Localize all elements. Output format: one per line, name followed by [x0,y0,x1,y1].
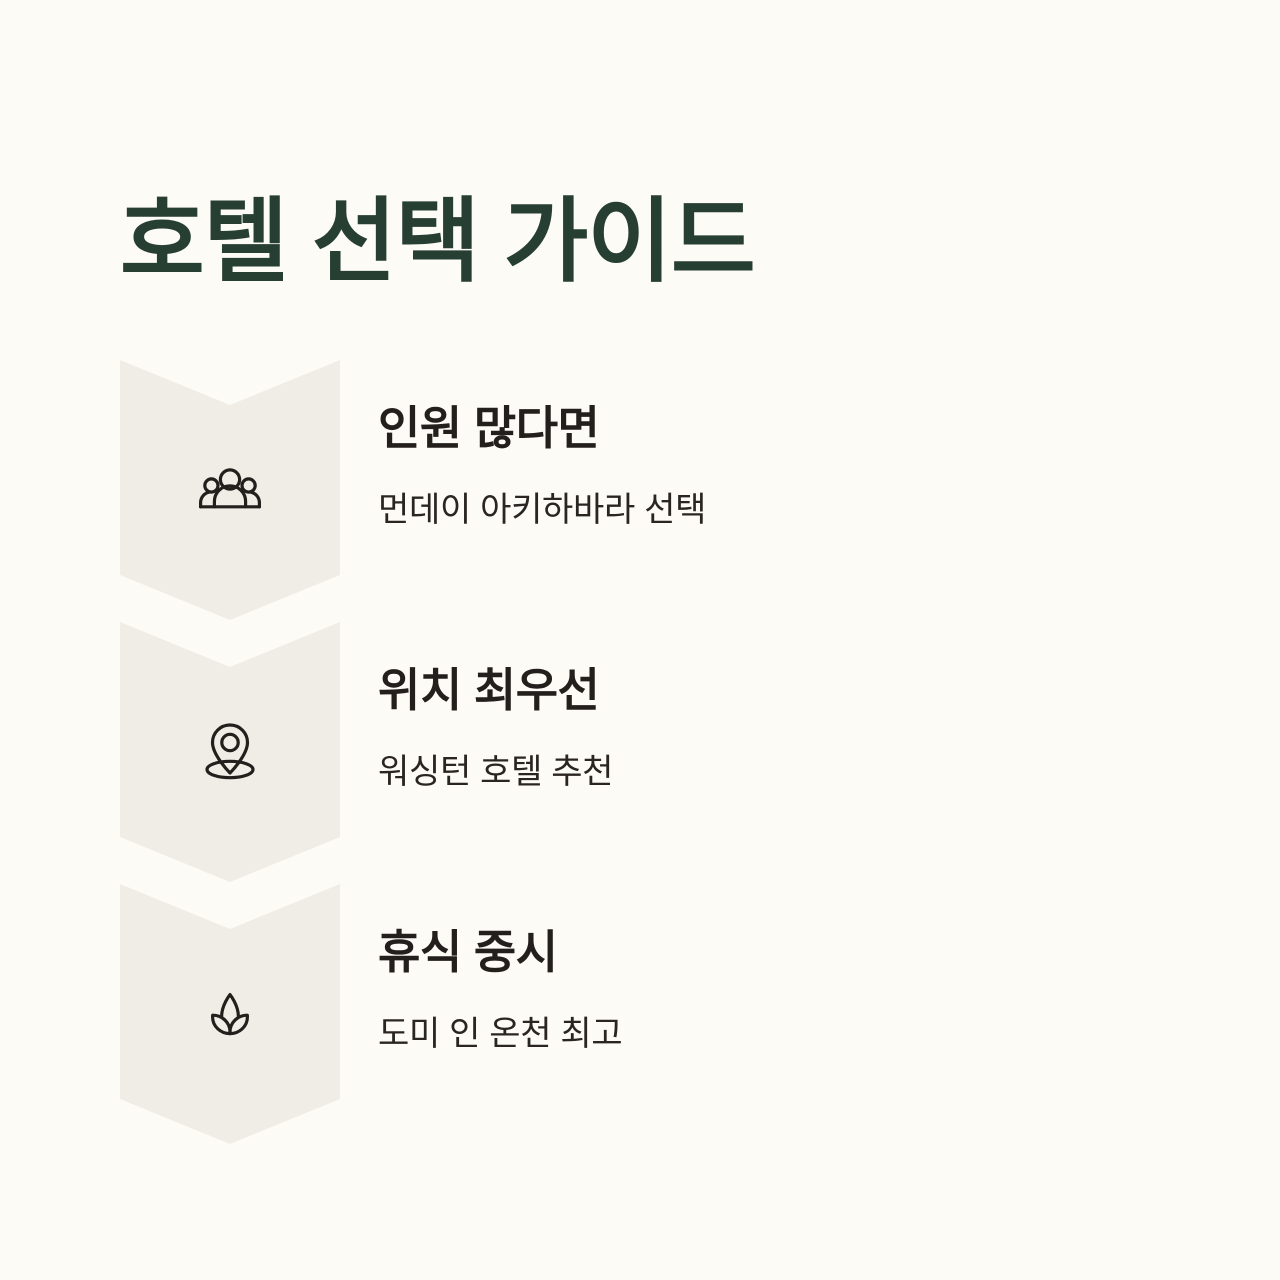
lotus-flower-icon [194,978,266,1050]
guide-card-subtitle: 먼데이 아키하바라 선택 [378,458,1198,532]
location-pin-icon [194,716,266,788]
chevron-badge-1 [120,360,340,620]
guide-card-subtitle: 워싱턴 호텔 추천 [378,720,1198,794]
guide-card-heading: 위치 최우선 [378,662,1198,720]
guide-card-text: 인원 많다면 먼데이 아키하바라 선택 [378,400,1198,532]
chevron-badge-2 [120,622,340,882]
page-title: 호텔 선택 가이드 [120,190,755,296]
guide-card-heading: 인원 많다면 [378,400,1198,458]
guide-card: 휴식 중시 도미 인 온천 최고 [0,884,1280,1146]
guide-card-text: 위치 최우선 워싱턴 호텔 추천 [378,662,1198,794]
guide-card: 인원 많다면 먼데이 아키하바라 선택 [0,360,1280,622]
guide-card-text: 휴식 중시 도미 인 온천 최고 [378,924,1198,1056]
guide-card-heading: 휴식 중시 [378,924,1198,982]
chevron-badge-3 [120,884,340,1144]
guide-page: 호텔 선택 가이드 인원 [0,0,1280,1280]
guide-card: 위치 최우선 워싱턴 호텔 추천 [0,622,1280,884]
guide-card-list: 인원 많다면 먼데이 아키하바라 선택 위치 최우선 워싱턴 호텔 추천 [0,360,1280,1146]
guide-card-subtitle: 도미 인 온천 최고 [378,982,1198,1056]
people-group-icon [194,454,266,526]
